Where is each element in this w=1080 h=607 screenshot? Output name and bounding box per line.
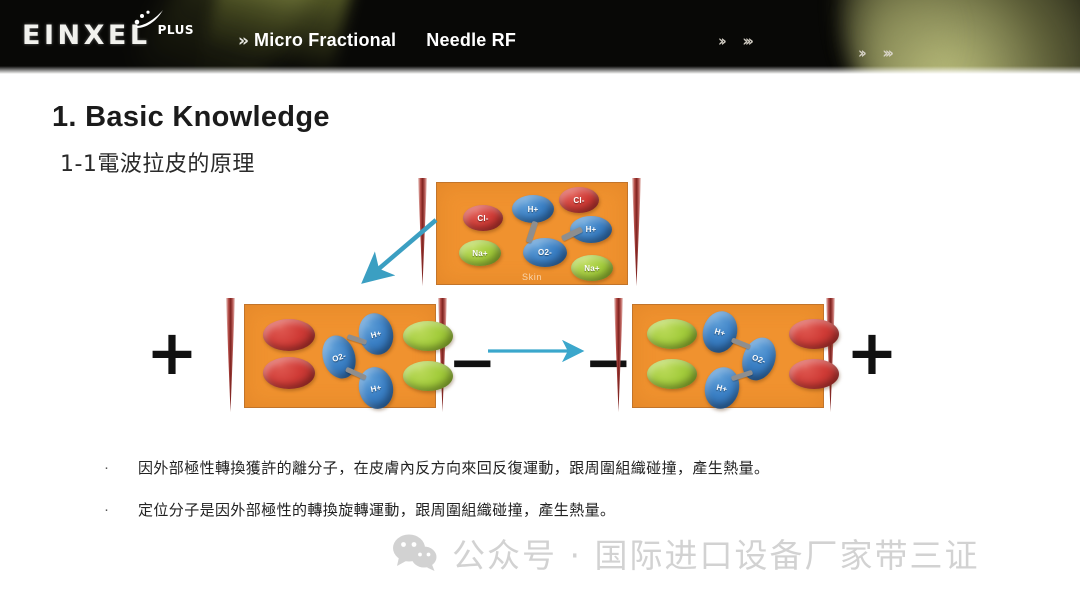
logo-plus-badge: PLUS: [158, 23, 194, 37]
ion-label: H+: [716, 382, 729, 393]
diagram-bottom-right: H+O2-H+: [612, 296, 842, 414]
ion-Hplus: H+: [512, 195, 554, 223]
ion-red: [789, 359, 839, 389]
page-subtitle: 1-1電波拉皮的原理: [60, 146, 255, 178]
logo-wordmark: EINXEL: [22, 22, 151, 49]
header-nav-item-needle-rf[interactable]: Needle RF: [426, 30, 516, 51]
ion-Hplus: H+: [354, 310, 397, 359]
double-chevron-icon-2: ››: [858, 44, 863, 62]
diagram-bottom-left: O2-H+H+: [224, 296, 454, 414]
bullet-text: 因外部極性轉換獲許的離分子，在皮膚內反方向來回反復運動，跟周圍組織碰撞，產生熱量…: [138, 458, 769, 478]
skin-label-top: Skin: [437, 272, 627, 282]
bullet-marker-icon: ·: [100, 500, 138, 520]
header-bottom-fade: [0, 66, 1080, 74]
ion-Hplus: H+: [698, 307, 742, 357]
ion-label: H+: [528, 205, 539, 214]
horizontal-arrow-icon: [486, 338, 596, 364]
ion-label: H+: [370, 328, 383, 339]
needle-electrode-left-br: [614, 298, 623, 412]
ion-Hplus: H+: [355, 364, 397, 412]
ion-label: O2-: [751, 352, 767, 365]
right-glow-decor-3: [840, 0, 960, 74]
header-nav-item-micro-fractional[interactable]: Micro Fractional: [254, 30, 396, 51]
ion-label: Cl-: [573, 196, 584, 205]
ion-label: H+: [370, 382, 382, 393]
needle-electrode-left-bl: [226, 298, 235, 412]
header-marks-group-2: ›› ›››: [858, 44, 890, 62]
ion-Clminus: Cl-: [559, 187, 599, 213]
bullet-text: 定位分子是因外部極性的轉換旋轉運動，跟周圍組織碰撞，產生熱量。: [138, 500, 615, 520]
ion-Hplus: H+: [700, 364, 743, 413]
triple-chevron-icon-2: ›››: [882, 44, 890, 62]
ion-red: [263, 319, 315, 351]
bullet-item: · 定位分子是因外部極性的轉換旋轉運動，跟周圍組織碰撞，產生熱量。: [100, 500, 1020, 520]
ion-label: O2-: [331, 351, 347, 364]
skin-region-bottom-right: H+O2-H+: [632, 304, 824, 408]
bullet-marker-icon: ·: [100, 458, 138, 478]
skin-region-bottom-left: O2-H+H+: [244, 304, 436, 408]
ion-green: [403, 321, 453, 351]
header-nav: ›› Micro Fractional Needle RF: [238, 30, 516, 51]
ion-green: [647, 359, 697, 389]
watermark: 公众号 · 国际进口设备厂家带三证: [392, 529, 979, 577]
triple-chevron-icon: ›››: [742, 32, 750, 50]
ion-label: O2-: [538, 248, 552, 257]
brand-logo: EINXEL PLUS: [22, 22, 194, 49]
needle-electrode-right-br: [826, 298, 835, 412]
diagram-top-skin-ions: Cl-H+Cl-H+O2-Na+Na+ Skin: [418, 176, 650, 288]
needle-electrode-right-bl: [438, 298, 447, 412]
ion-label: H+: [586, 225, 597, 234]
skin-region-top: Cl-H+Cl-H+O2-Na+Na+ Skin: [436, 182, 628, 285]
ion-label: H+: [714, 326, 727, 338]
ion-red: [789, 319, 839, 349]
ion-Naplus: Na+: [459, 240, 501, 266]
sign-positive-right: +: [846, 322, 898, 384]
page-title: 1. Basic Knowledge: [52, 101, 330, 134]
ion-label: Cl-: [477, 214, 488, 223]
sign-positive-left: +: [146, 322, 198, 384]
ion-Clminus: Cl-: [463, 205, 503, 231]
bullet-item: · 因外部極性轉換獲許的離分子，在皮膚內反方向來回反復運動，跟周圍組織碰撞，產生…: [100, 458, 1020, 478]
ion-green: [647, 319, 697, 349]
wechat-icon: [392, 533, 438, 573]
ion-label: Na+: [472, 249, 488, 258]
header-marks-group-1: ›› ›››: [718, 32, 750, 50]
ion-red: [263, 357, 315, 389]
header-banner: EINXEL PLUS ›› Micro Fractional Needle R…: [0, 0, 1080, 74]
chevron-right-icon: ››: [238, 31, 246, 51]
needle-electrode-right-top: [632, 178, 641, 286]
watermark-text: 公众号 · 国际进口设备厂家带三证: [452, 529, 979, 577]
ion-green: [403, 361, 453, 391]
diagonal-arrow-icon: [348, 214, 448, 290]
double-chevron-icon: ››: [718, 32, 723, 50]
